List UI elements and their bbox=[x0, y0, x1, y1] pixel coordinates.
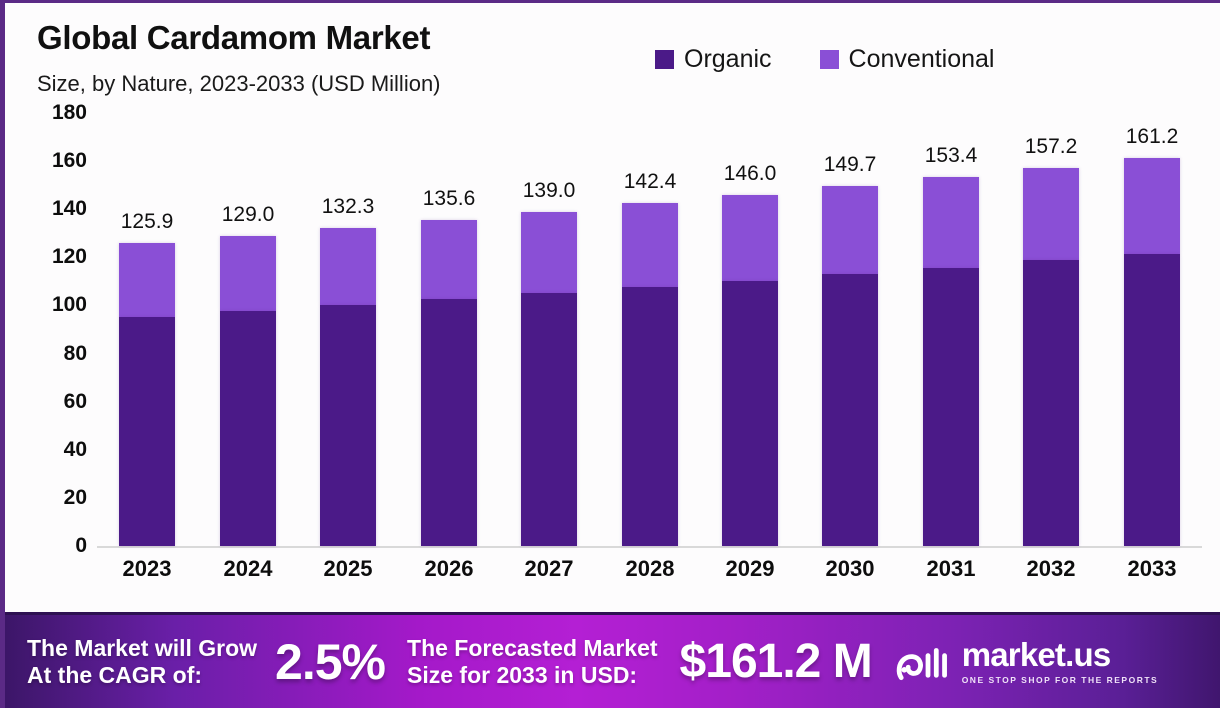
chart-legend: OrganicConventional bbox=[655, 45, 994, 74]
bar-segment-organic[interactable] bbox=[923, 268, 979, 546]
bar-segment-organic[interactable] bbox=[1023, 260, 1079, 546]
bar-segment-conventional[interactable] bbox=[722, 195, 778, 281]
legend-item-organic[interactable]: Organic bbox=[655, 45, 772, 74]
x-axis-line bbox=[97, 546, 1202, 548]
bar-segment-conventional[interactable] bbox=[622, 203, 678, 287]
bar-group[interactable]: 142.4 bbox=[622, 203, 678, 546]
bar-segment-conventional[interactable] bbox=[220, 236, 276, 312]
x-axis-tick-label: 2033 bbox=[1124, 556, 1180, 582]
chart-header: Global Cardamom Market Size, by Nature, … bbox=[5, 3, 1220, 113]
y-axis: 180160140120100806040200 bbox=[5, 113, 97, 553]
bar-segment-organic[interactable] bbox=[622, 287, 678, 546]
bar-group[interactable]: 157.2 bbox=[1023, 168, 1079, 546]
bar-total-label: 146.0 bbox=[724, 162, 777, 186]
bar-total-label: 161.2 bbox=[1126, 125, 1179, 149]
bar-segment-conventional[interactable] bbox=[421, 220, 477, 299]
bar-segment-conventional[interactable] bbox=[1023, 168, 1079, 260]
page-title: Global Cardamom Market bbox=[37, 19, 430, 57]
bar-total-label: 135.6 bbox=[423, 187, 476, 211]
x-axis-tick-label: 2024 bbox=[220, 556, 276, 582]
x-axis-tick-label: 2027 bbox=[521, 556, 577, 582]
brand-logo[interactable]: market.us ONE STOP SHOP FOR THE REPORTS bbox=[896, 638, 1159, 685]
y-axis-tick-label: 0 bbox=[75, 534, 87, 558]
y-axis-tick-label: 60 bbox=[64, 390, 87, 414]
bar-total-label: 153.4 bbox=[925, 144, 978, 168]
bar-segment-organic[interactable] bbox=[1124, 254, 1180, 547]
bar-segment-organic[interactable] bbox=[521, 293, 577, 546]
bar-segment-conventional[interactable] bbox=[320, 228, 376, 305]
y-axis-tick-label: 40 bbox=[64, 438, 87, 462]
bar-group[interactable]: 149.7 bbox=[822, 186, 878, 546]
bar-segment-organic[interactable] bbox=[421, 299, 477, 546]
bar-segment-organic[interactable] bbox=[119, 317, 175, 546]
bar-total-label: 142.4 bbox=[624, 170, 677, 194]
bars-container: 125.9129.0132.3135.6139.0142.4146.0149.7… bbox=[97, 113, 1202, 546]
x-axis-tick-label: 2030 bbox=[822, 556, 878, 582]
x-axis-tick-label: 2031 bbox=[923, 556, 979, 582]
bar-total-label: 129.0 bbox=[222, 203, 275, 227]
bar-group[interactable]: 146.0 bbox=[722, 195, 778, 546]
bar-segment-conventional[interactable] bbox=[119, 243, 175, 317]
bar-segment-conventional[interactable] bbox=[521, 212, 577, 294]
brand-name: market.us bbox=[962, 638, 1159, 671]
chart-infographic: Global Cardamom Market Size, by Nature, … bbox=[0, 0, 1220, 708]
legend-label: Conventional bbox=[849, 45, 995, 74]
y-axis-tick-label: 180 bbox=[52, 101, 87, 125]
bar-group[interactable]: 139.0 bbox=[521, 212, 577, 546]
market-us-logo-icon bbox=[896, 642, 950, 682]
y-axis-tick-label: 100 bbox=[52, 293, 87, 317]
footer-banner: The Market will Grow At the CAGR of: 2.5… bbox=[5, 612, 1220, 708]
bar-total-label: 132.3 bbox=[322, 195, 375, 219]
bar-segment-conventional[interactable] bbox=[1124, 158, 1180, 253]
bar-total-label: 139.0 bbox=[523, 179, 576, 203]
bar-segment-organic[interactable] bbox=[220, 311, 276, 546]
bar-segment-organic[interactable] bbox=[722, 281, 778, 546]
bar-group[interactable]: 135.6 bbox=[421, 220, 477, 546]
y-axis-tick-label: 140 bbox=[52, 197, 87, 221]
bar-total-label: 125.9 bbox=[121, 210, 174, 234]
x-axis-tick-label: 2029 bbox=[722, 556, 778, 582]
bar-segment-organic[interactable] bbox=[822, 274, 878, 546]
y-axis-tick-label: 80 bbox=[64, 342, 87, 366]
x-axis-tick-label: 2025 bbox=[320, 556, 376, 582]
forecast-value: $161.2 M bbox=[680, 634, 872, 689]
y-axis-tick-label: 120 bbox=[52, 245, 87, 269]
bar-group[interactable]: 132.3 bbox=[320, 228, 376, 546]
x-axis-tick-label: 2028 bbox=[622, 556, 678, 582]
legend-swatch-icon bbox=[655, 50, 674, 69]
chart-subtitle: Size, by Nature, 2023-2033 (USD Million) bbox=[37, 71, 441, 97]
legend-item-conventional[interactable]: Conventional bbox=[820, 45, 995, 74]
x-axis-tick-label: 2023 bbox=[119, 556, 175, 582]
brand-tagline: ONE STOP SHOP FOR THE REPORTS bbox=[962, 675, 1159, 685]
bar-group[interactable]: 161.2 bbox=[1124, 158, 1180, 546]
plot-area: 180160140120100806040200 125.9129.0132.3… bbox=[5, 113, 1220, 615]
bar-segment-conventional[interactable] bbox=[923, 177, 979, 268]
legend-label: Organic bbox=[684, 45, 772, 74]
bar-segment-organic[interactable] bbox=[320, 305, 376, 546]
bar-group[interactable]: 125.9 bbox=[119, 243, 175, 546]
y-axis-tick-label: 160 bbox=[52, 149, 87, 173]
bar-total-label: 149.7 bbox=[824, 153, 877, 177]
bar-segment-conventional[interactable] bbox=[822, 186, 878, 274]
x-axis-tick-label: 2026 bbox=[421, 556, 477, 582]
legend-swatch-icon bbox=[820, 50, 839, 69]
x-axis: 2023202420252026202720282029203020312032… bbox=[97, 556, 1202, 596]
brand-text: market.us ONE STOP SHOP FOR THE REPORTS bbox=[962, 638, 1159, 685]
forecast-label: The Forecasted Market Size for 2033 in U… bbox=[407, 635, 658, 688]
y-axis-tick-label: 20 bbox=[64, 486, 87, 510]
cagr-label: The Market will Grow At the CAGR of: bbox=[27, 635, 257, 688]
bar-total-label: 157.2 bbox=[1025, 135, 1078, 159]
cagr-value: 2.5% bbox=[275, 633, 385, 691]
bar-group[interactable]: 129.0 bbox=[220, 236, 276, 546]
x-axis-tick-label: 2032 bbox=[1023, 556, 1079, 582]
bar-group[interactable]: 153.4 bbox=[923, 177, 979, 546]
